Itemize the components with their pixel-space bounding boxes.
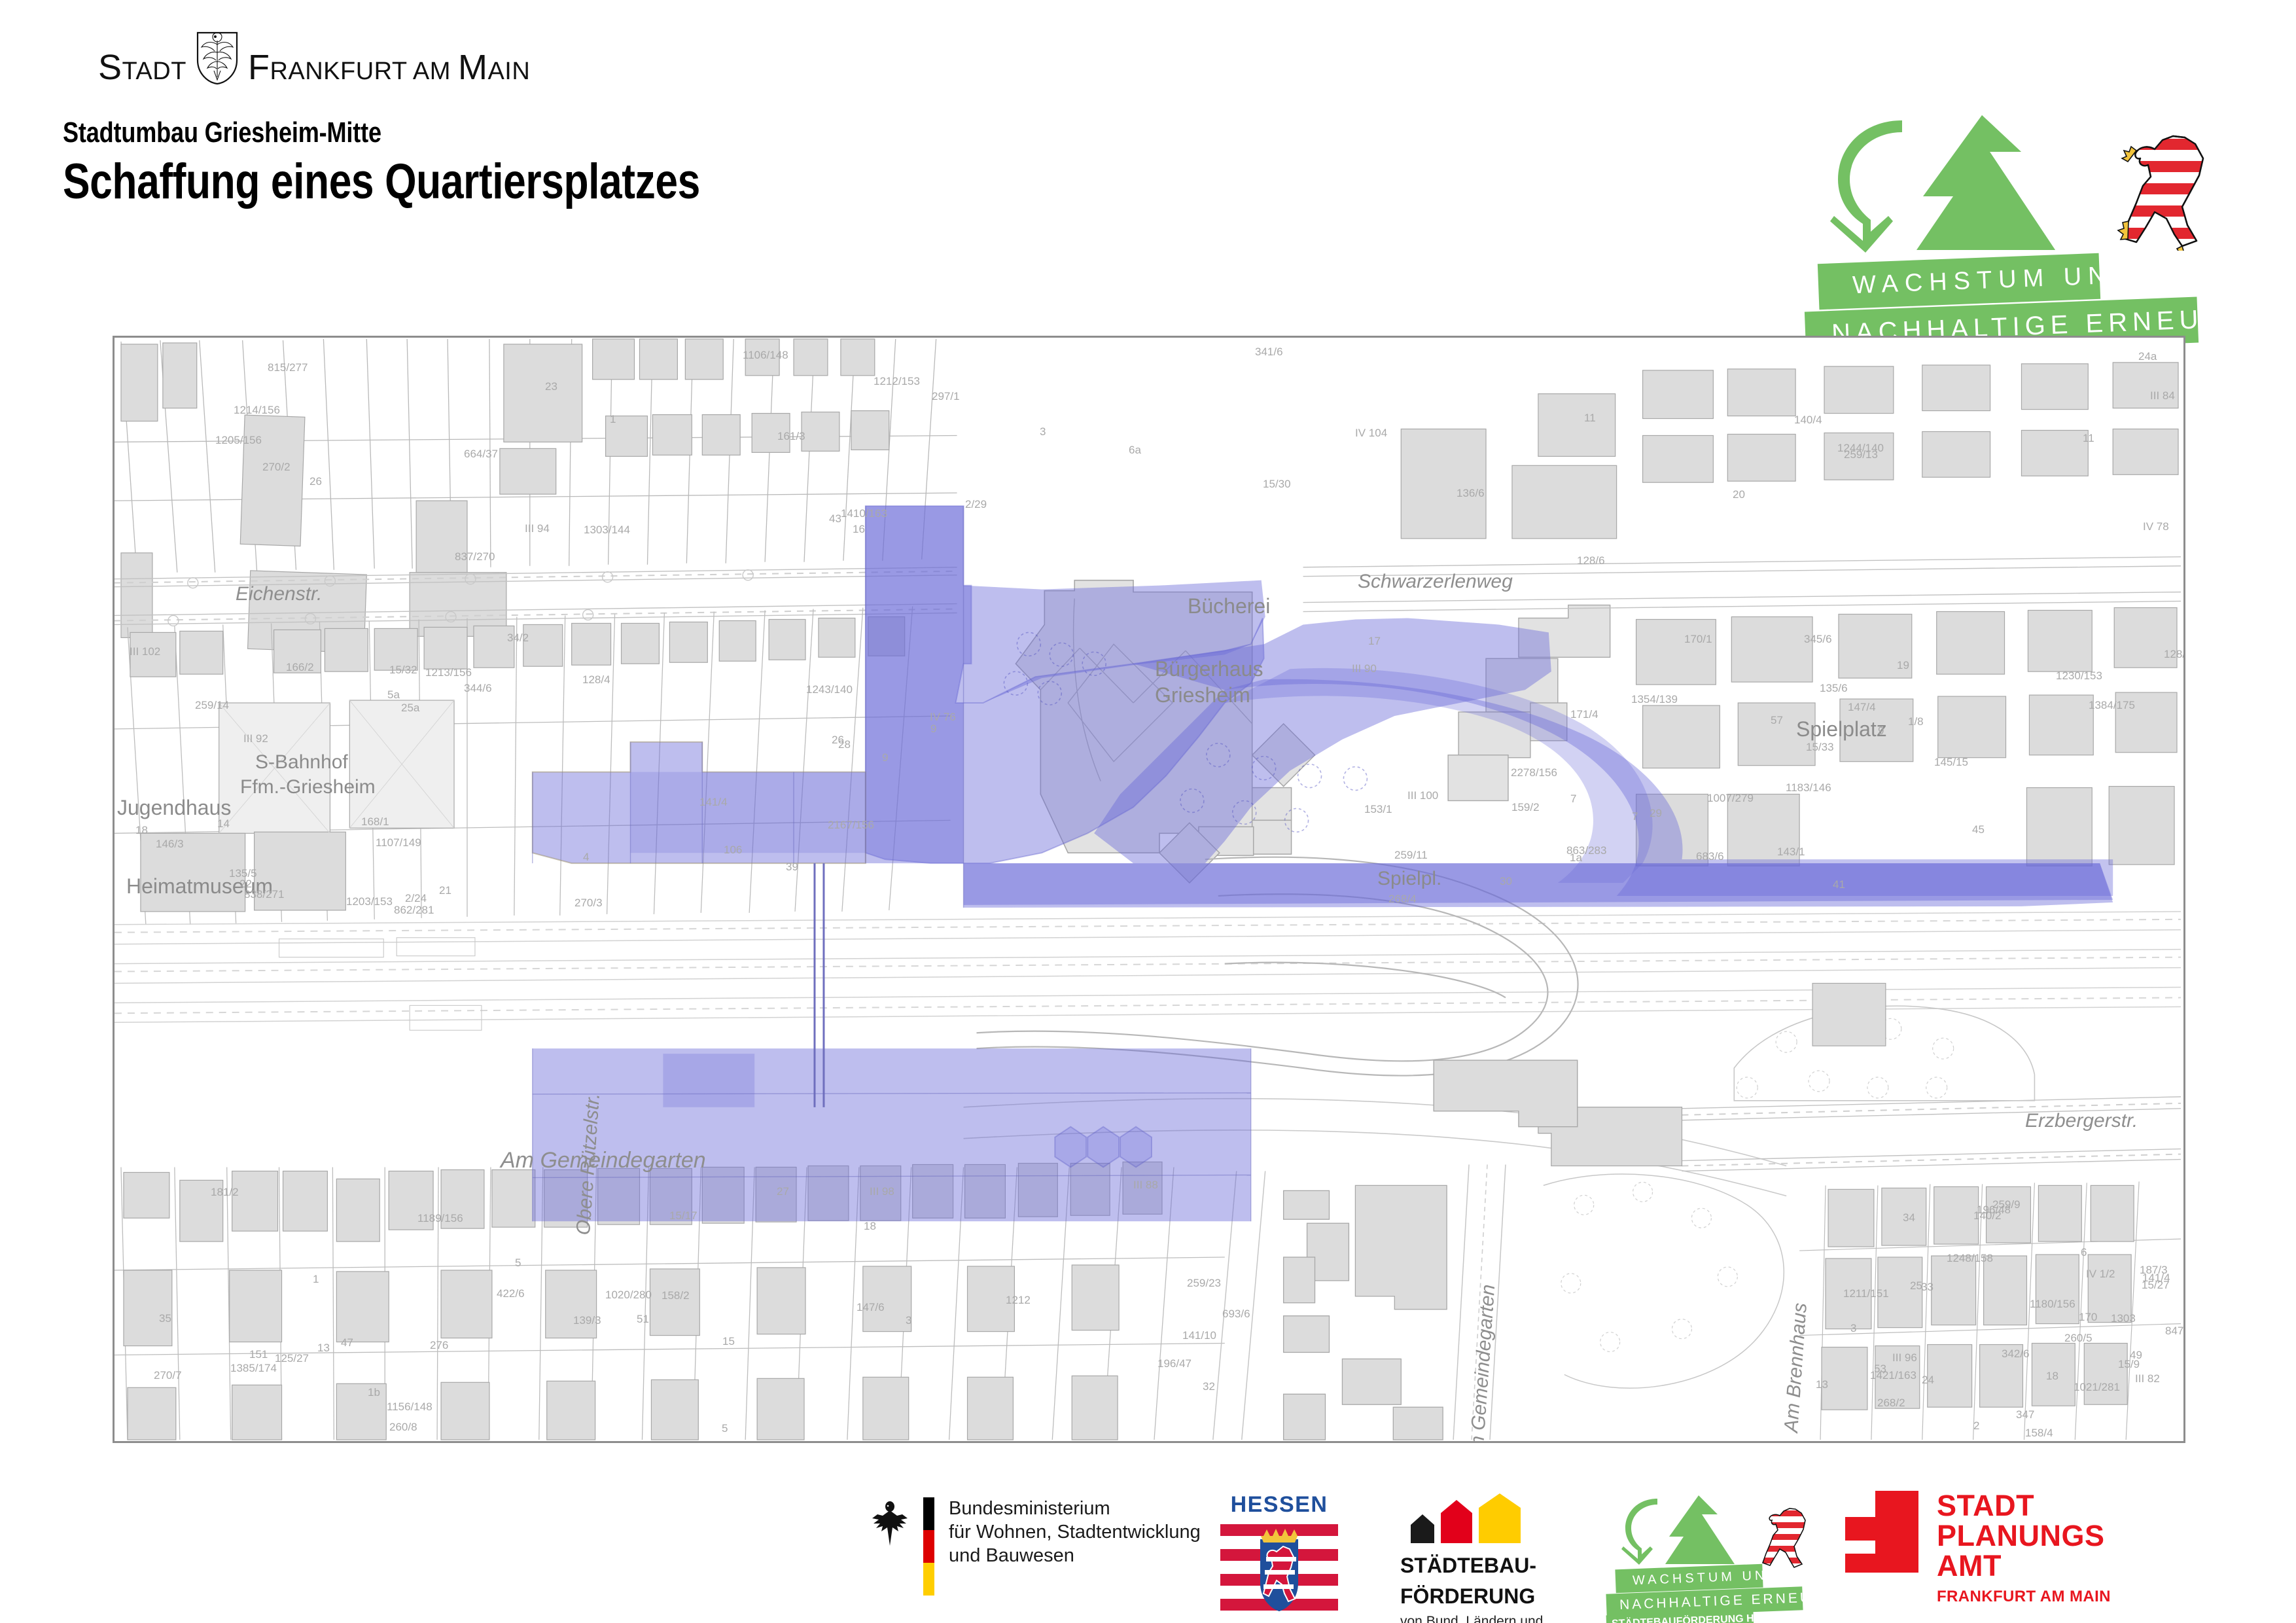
- bundesministerium-logo: Bundesministerium für Wohnen, Stadtentwi…: [867, 1497, 1201, 1596]
- staedtebaufoerderung-logo: STÄDTEBAU- FÖRDERUNG von Bund, Ländern u…: [1400, 1493, 1570, 1623]
- bundesadler-icon: [867, 1497, 913, 1547]
- poster-page: SStadtTADT FRANKFURT AM MAIN Stadtumbau …: [0, 0, 2296, 1623]
- page-subtitle: Stadtumbau Griesheim-Mitte: [63, 116, 700, 149]
- hessen-lion-icon: [2117, 130, 2215, 251]
- three-houses-icon: [1407, 1493, 1525, 1543]
- stbf-line2: FÖRDERUNG: [1400, 1585, 1570, 1608]
- stadtplanungsamt-wordmark: STADT PLANUNGS AMT FRANKFURT AM MAIN: [1937, 1491, 2111, 1605]
- spa-line1: STADT: [1937, 1491, 2111, 1521]
- cadastral-map[interactable]: Eichenstr. Schwarzerlenweg Erzbergerstr.…: [113, 336, 2185, 1443]
- frankfurt-eagle-crest-icon: [196, 31, 239, 85]
- wachstum-logo-footer: WACHSTUM UND NACHHALTIGE ERNEUERUNG STÄD…: [1606, 1493, 1822, 1618]
- hessen-lion-icon-small: [1759, 1505, 1812, 1569]
- map-drawing: [115, 338, 2183, 1441]
- german-flag-bar-icon: [923, 1497, 934, 1596]
- hessen-wordmark: HESSEN: [1214, 1492, 1345, 1518]
- spa-sub: FRANKFURT AM MAIN: [1937, 1589, 2111, 1605]
- bundesministerium-text: Bundesministerium für Wohnen, Stadtentwi…: [949, 1497, 1201, 1568]
- stbf-line3: von Bund, Ländern und: [1400, 1613, 1570, 1623]
- city-logo-word-frankfurt: FRANKFURT AM MAIN: [248, 50, 530, 85]
- green-tree-arrow-icon: [1825, 111, 2106, 275]
- page-title: Schaffung eines Quartiersplatzes: [63, 153, 700, 210]
- bmwsb-line3: und Bauwesen: [949, 1544, 1201, 1568]
- hessen-flag-coat-icon: [1220, 1523, 1338, 1614]
- stadtplanungsamt-mark-icon: [1845, 1491, 1918, 1573]
- spa-line2: PLANUNGS: [1937, 1521, 2111, 1551]
- hessen-logo: HESSEN: [1214, 1492, 1345, 1618]
- city-logo-word-stadt: SStadtTADT: [98, 50, 186, 85]
- spa-line3: AMT: [1937, 1551, 2111, 1581]
- stadtplanungsamt-logo: STADT PLANUNGS AMT FRANKFURT AM MAIN: [1845, 1491, 2111, 1605]
- bmwsb-line2: für Wohnen, Stadtentwicklung: [949, 1521, 1201, 1544]
- title-block: Stadtumbau Griesheim-Mitte Schaffung ein…: [63, 116, 840, 210]
- bmwsb-line1: Bundesministerium: [949, 1497, 1201, 1521]
- city-of-frankfurt-logo: SStadtTADT FRANKFURT AM MAIN: [98, 31, 530, 85]
- stbf-line1: STÄDTEBAU-: [1400, 1554, 1570, 1577]
